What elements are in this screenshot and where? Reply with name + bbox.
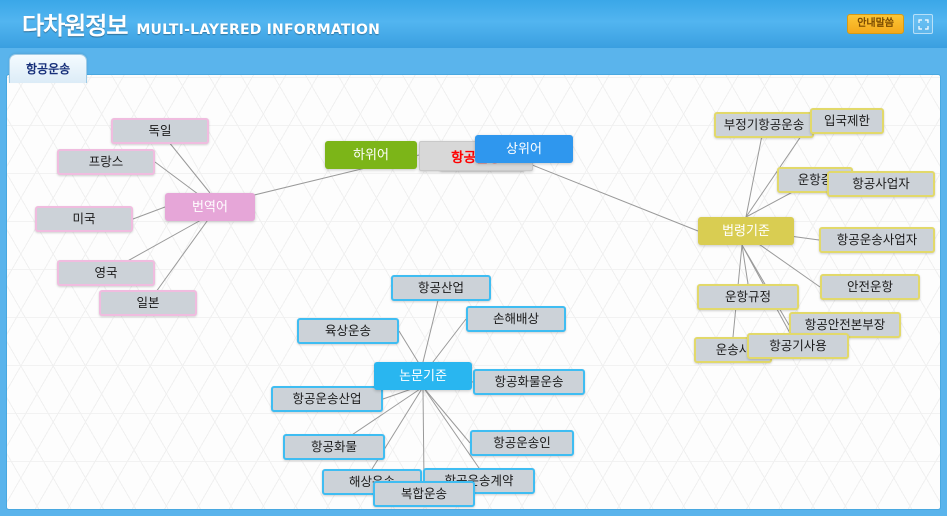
graph-node[interactable]: 미국	[35, 206, 133, 232]
graph-node[interactable]: 항공산업	[391, 275, 491, 301]
application-root: 다차원정보 MULTI-LAYERED INFORMATION 안내말씀 항공운…	[0, 0, 947, 516]
graph-edge	[423, 387, 479, 468]
cluster-hub-yellow[interactable]: 법령기준	[698, 217, 794, 245]
graph-node[interactable]: 항공화물	[283, 434, 385, 460]
expand-icon[interactable]	[913, 14, 933, 34]
brand-title-ko: 다차원정보	[22, 6, 127, 41]
graph-node[interactable]: 일본	[99, 290, 197, 316]
app-header: 다차원정보 MULTI-LAYERED INFORMATION 안내말씀	[0, 0, 947, 49]
graph-node[interactable]: 부정기항공운송	[714, 112, 814, 138]
graph-edge	[423, 387, 470, 443]
hypernym-node[interactable]: 하위어	[325, 141, 417, 169]
hyponym-node[interactable]: 상위어	[475, 135, 573, 163]
graph-node[interactable]: 입국제한	[810, 108, 884, 134]
graph-node[interactable]: 복합운송	[373, 481, 475, 507]
graph-node[interactable]: 운항규정	[697, 284, 799, 310]
cluster-hub-cyan[interactable]: 논문기준	[374, 362, 472, 390]
tab-airtransport[interactable]: 항공운송	[9, 54, 87, 83]
brand: 다차원정보 MULTI-LAYERED INFORMATION	[22, 6, 380, 41]
graph-node[interactable]: 안전운항	[820, 274, 920, 300]
notice-button[interactable]: 안내말씀	[847, 14, 904, 34]
graph-node[interactable]: 항공운송인	[470, 430, 574, 456]
graph-node[interactable]: 손해배상	[466, 306, 566, 332]
graph-node[interactable]: 항공운송산업	[271, 386, 383, 412]
brand-title-en: MULTI-LAYERED INFORMATION	[136, 22, 380, 38]
header-actions: 안내말씀	[847, 14, 933, 34]
cluster-hub-pink[interactable]: 번역어	[165, 193, 255, 221]
graph-node[interactable]: 영국	[57, 260, 155, 286]
mindmap-canvas[interactable]: 독일프랑스미국영국일본번역어부정기항공운송입국제한운항증항공사업자항공운송사업자…	[6, 74, 941, 510]
graph-node[interactable]: 항공기사용	[747, 333, 849, 359]
graph-node[interactable]: 항공화물운송	[473, 369, 585, 395]
graph-node[interactable]: 독일	[111, 118, 209, 144]
graph-edge	[507, 155, 698, 231]
graph-node[interactable]: 육상운송	[297, 318, 399, 344]
graph-node[interactable]: 프랑스	[57, 149, 155, 175]
graph-node[interactable]: 항공사업자	[827, 171, 935, 197]
tab-strip	[0, 48, 947, 62]
graph-node[interactable]: 항공운송사업자	[819, 227, 935, 253]
graph-edge	[133, 207, 165, 219]
